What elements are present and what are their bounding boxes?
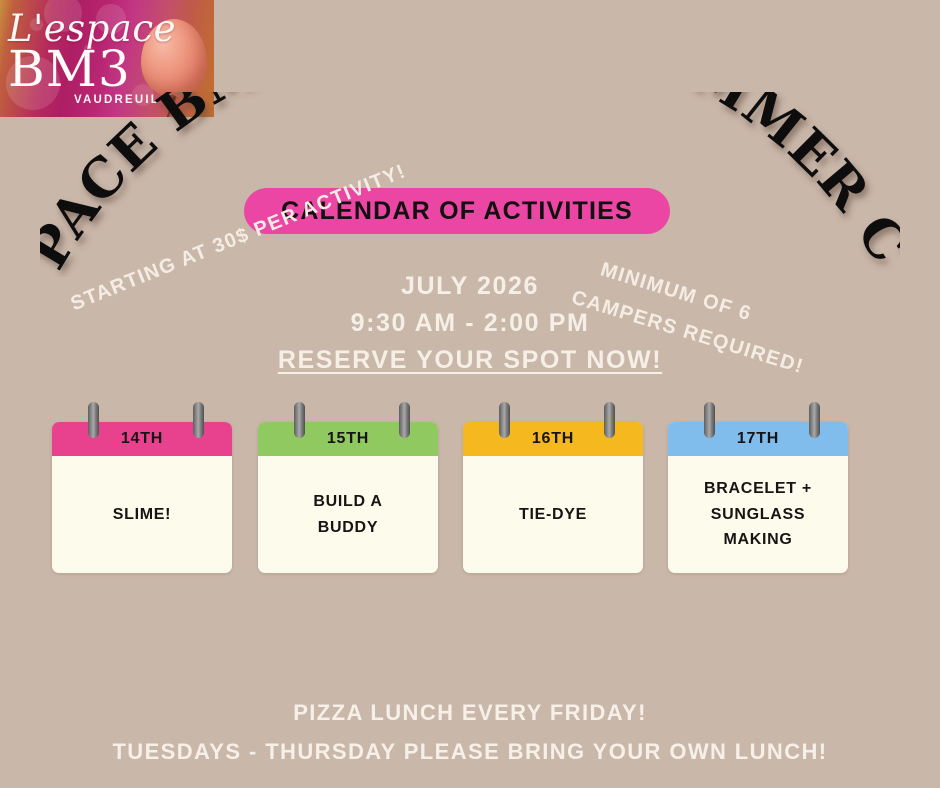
calendar-ring-icon [704, 402, 715, 438]
card-activity-label: SLIME! [113, 502, 171, 528]
footer-pizza-note: PIZZA LUNCH EVERY FRIDAY! [0, 700, 940, 726]
calendar-ring-icon [399, 402, 410, 438]
calendar-ring-icon [193, 402, 204, 438]
activity-card[interactable]: 15TH BUILD ABUDDY [258, 422, 438, 573]
card-day-label: 16TH [532, 430, 574, 448]
card-body: BUILD ABUDDY [258, 456, 438, 573]
event-month: JULY 2026 [0, 272, 940, 301]
calendar-ring-icon [88, 402, 99, 438]
card-day-label: 15TH [327, 430, 369, 448]
arched-headline-textpath: L'ESPACE BM3 DROP IN SUMMER CAMP [40, 92, 900, 277]
activity-card-list: 14TH SLIME! 15TH BUILD ABUDDY 16TH TIE-D… [52, 402, 892, 578]
card-activity-label: TIE-DYE [519, 502, 587, 528]
arched-headline-text: L'ESPACE BM3 DROP IN SUMMER CAMP [40, 92, 900, 277]
calendar-ring-icon [809, 402, 820, 438]
logo-brand-name: BM3 [8, 44, 131, 94]
event-hours: 9:30 AM - 2:00 PM [0, 309, 940, 338]
calendar-ring-icon [604, 402, 615, 438]
card-header: 16TH [463, 422, 643, 456]
card-body: BRACELET +SUNGLASSMAKING [668, 456, 848, 573]
event-info-block: JULY 2026 9:30 AM - 2:00 PM RESERVE YOUR… [0, 272, 940, 375]
footer-lunch-note: TUESDAYS - THURSDAY PLEASE BRING YOUR OW… [0, 739, 940, 765]
card-header: 14TH [52, 422, 232, 456]
card-day-label: 14TH [121, 430, 163, 448]
card-day-label: 17TH [737, 430, 779, 448]
card-activity-label: BUILD ABUDDY [313, 489, 382, 540]
card-header: 17TH [668, 422, 848, 456]
activity-card[interactable]: 16TH TIE-DYE [463, 422, 643, 573]
card-body: TIE-DYE [463, 456, 643, 573]
card-activity-label: BRACELET +SUNGLASSMAKING [704, 476, 812, 553]
activity-card[interactable]: 14TH SLIME! [52, 422, 232, 573]
calendar-ring-icon [499, 402, 510, 438]
reserve-spot-link[interactable]: RESERVE YOUR SPOT NOW! [0, 346, 940, 375]
footer-notes: PIZZA LUNCH EVERY FRIDAY! TUESDAYS - THU… [0, 700, 940, 765]
calendar-ring-icon [294, 402, 305, 438]
card-header: 15TH [258, 422, 438, 456]
arched-headline: L'ESPACE BM3 DROP IN SUMMER CAMP [40, 92, 900, 277]
card-body: SLIME! [52, 456, 232, 573]
activity-card[interactable]: 17TH BRACELET +SUNGLASSMAKING [668, 422, 848, 573]
